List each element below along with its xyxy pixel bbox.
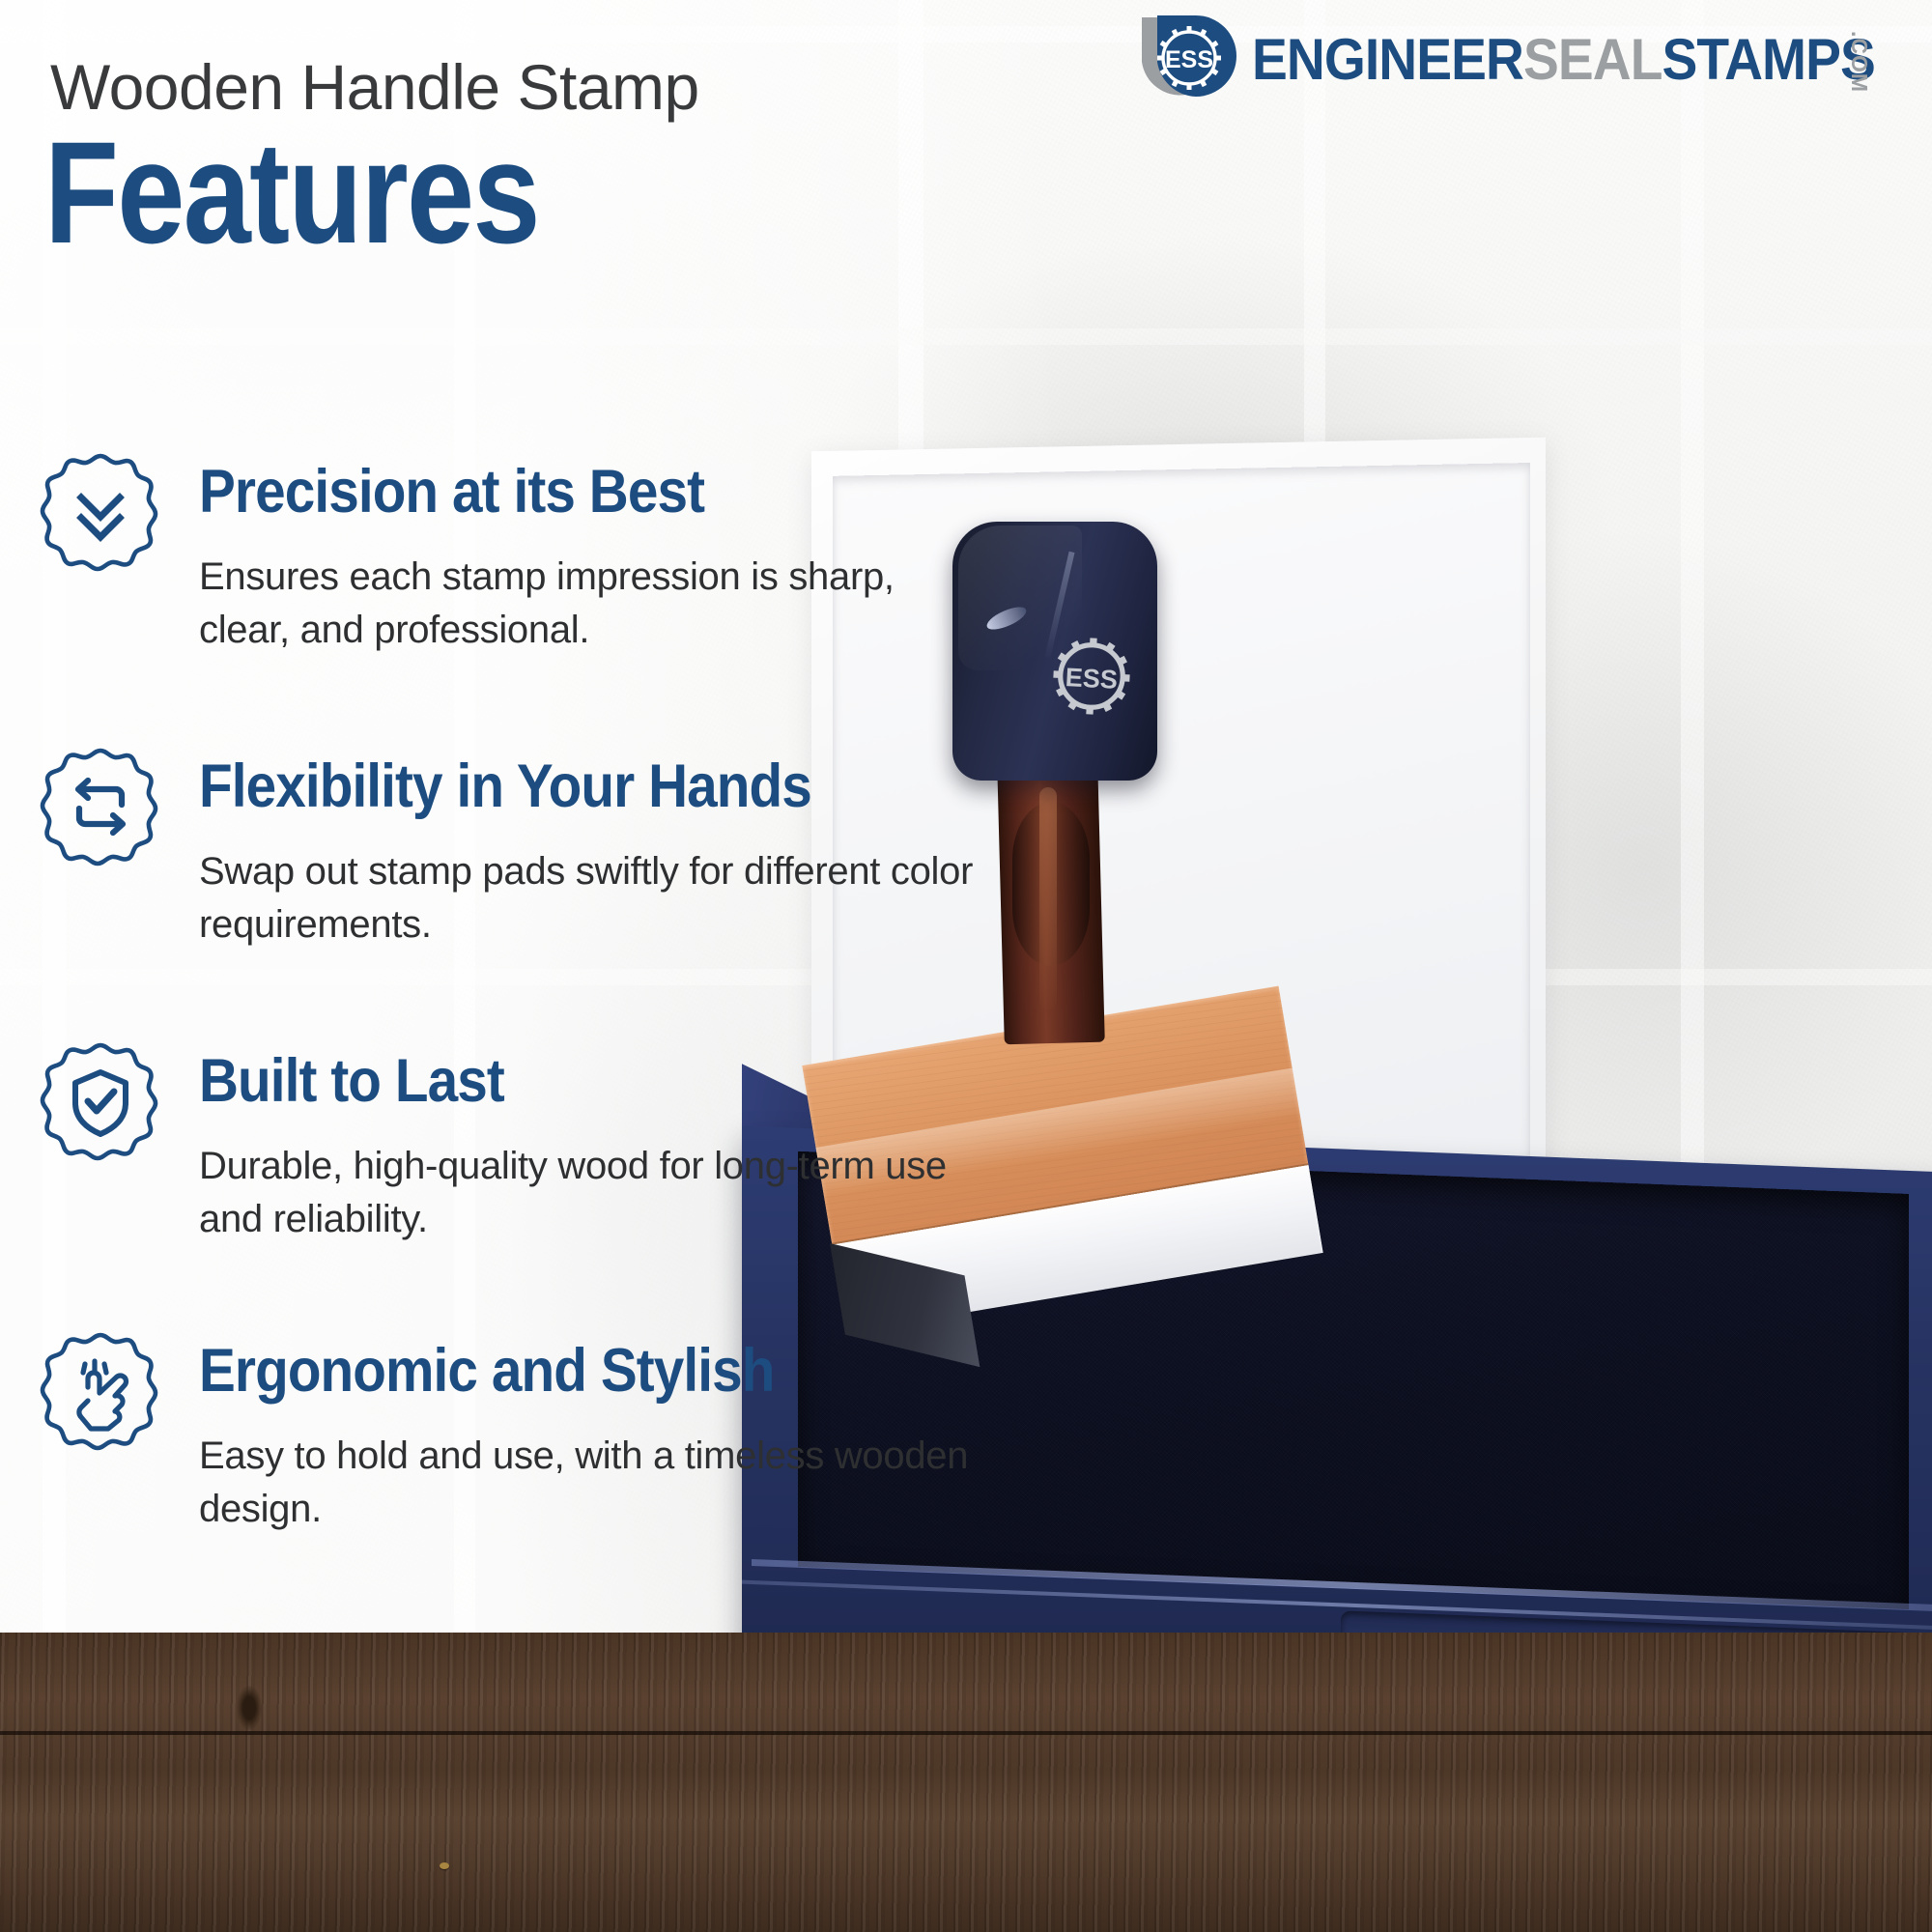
brand-wordmark: ENGINEERSEALSTAMPS bbox=[1252, 31, 1875, 89]
ess-badge-label: ESS bbox=[1165, 46, 1213, 73]
wordmark-stamps: STAMPS bbox=[1662, 27, 1875, 92]
ess-badge-icon: ESS bbox=[1136, 14, 1238, 114]
page-title: Features bbox=[44, 124, 539, 262]
infographic-canvas: ESS Wooden Handle Stamp Features bbox=[0, 0, 1932, 1932]
feature-heading: Ergonomic and Stylish bbox=[199, 1341, 774, 1402]
feature-heading: Built to Last bbox=[199, 1051, 504, 1112]
badge-swap-arrows-icon bbox=[43, 749, 158, 865]
badge-shield-check-icon bbox=[43, 1043, 158, 1159]
feature-body: Swap out stamp pads swiftly for differen… bbox=[199, 845, 991, 952]
wood-plank-seam bbox=[0, 1731, 1932, 1735]
knob-ess-label: ESS bbox=[1065, 663, 1119, 695]
feature-heading: Precision at its Best bbox=[199, 462, 704, 523]
wordmark-seal: SEAL bbox=[1523, 27, 1662, 92]
knob-ess-gear-icon: ESS bbox=[1038, 623, 1144, 728]
wood-table-surface bbox=[0, 1633, 1932, 1932]
badge-double-chevron-down-icon bbox=[43, 454, 158, 570]
wood-nail-head bbox=[440, 1862, 449, 1869]
feature-body: Easy to hold and use, with a timeless wo… bbox=[199, 1430, 991, 1536]
feature-body: Ensures each stamp impression is sharp, … bbox=[199, 551, 991, 657]
feature-body: Durable, high-quality wood for long-term… bbox=[199, 1140, 991, 1246]
brand-logo[interactable]: ESS ENGINEERSEALSTAMPS .COM bbox=[1136, 14, 1909, 114]
stamp-stem-highlight bbox=[1039, 787, 1057, 1009]
wordmark-dotcom: .COM bbox=[1846, 31, 1872, 93]
wordmark-engineer: ENGINEER bbox=[1252, 27, 1523, 92]
badge-hand-tap-icon bbox=[43, 1333, 158, 1449]
feature-heading: Flexibility in Your Hands bbox=[199, 756, 811, 817]
wood-knot bbox=[237, 1686, 262, 1730]
